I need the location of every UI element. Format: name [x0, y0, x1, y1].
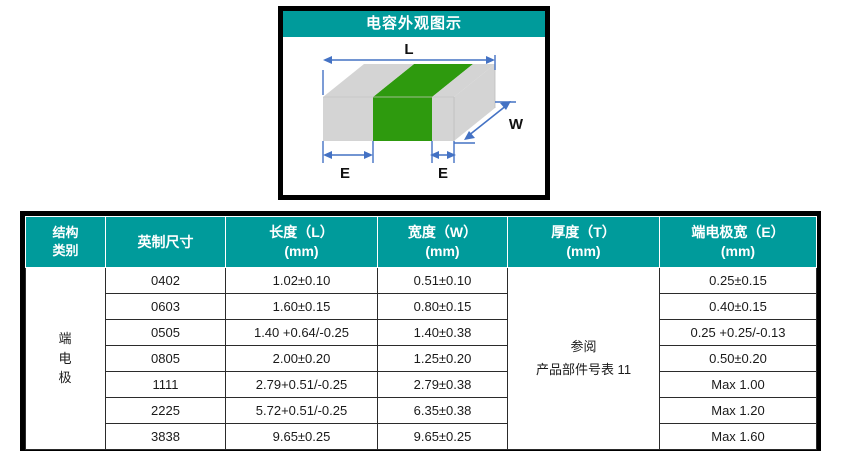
- header-terminal-electrode-width-line1: 端电极宽（E）: [662, 223, 814, 242]
- capacitor-diagram-panel: 电容外观图示: [278, 6, 550, 200]
- header-structure-category: 结构 类别: [26, 217, 106, 268]
- thickness-line1: 参阅: [510, 336, 657, 358]
- e-left-arrow-b: [364, 151, 373, 159]
- cell-size: 3838: [106, 424, 226, 450]
- l-label: L: [404, 41, 413, 58]
- l-arrow-left: [323, 56, 332, 64]
- dimension-spec-table: 结构 类别 英制尺寸 长度（L） (mm) 宽度（W） (mm) 厚度（T） (…: [25, 216, 817, 450]
- table-row: 0805 2.00±0.20 1.25±0.20 0.50±0.20: [26, 346, 817, 372]
- cell-size: 0603: [106, 294, 226, 320]
- cell-width: 1.25±0.20: [378, 346, 508, 372]
- cell-length: 1.40 +0.64/-0.25: [226, 320, 378, 346]
- cell-electrode: 0.50±0.20: [660, 346, 817, 372]
- table-row: 3838 9.65±0.25 9.65±0.25 Max 1.60: [26, 424, 817, 450]
- cell-size: 0505: [106, 320, 226, 346]
- table-row: 0603 1.60±0.15 0.80±0.15 0.40±0.15: [26, 294, 817, 320]
- cell-width: 0.80±0.15: [378, 294, 508, 320]
- cell-length: 1.02±0.10: [226, 268, 378, 294]
- cell-length: 1.60±0.15: [226, 294, 378, 320]
- header-imperial-size: 英制尺寸: [106, 217, 226, 268]
- table-row: 端 电 极 0402 1.02±0.10 0.51±0.10 参阅 产品部件号表…: [26, 268, 817, 294]
- cell-length: 2.00±0.20: [226, 346, 378, 372]
- e-left-arrow-a: [323, 151, 332, 159]
- header-thickness: 厚度（T） (mm): [508, 217, 660, 268]
- cell-length: 2.79+0.51/-0.25: [226, 372, 378, 398]
- header-terminal-electrode-width: 端电极宽（E） (mm): [660, 217, 817, 268]
- cell-electrode: Max 1.20: [660, 398, 817, 424]
- cell-electrode: 0.40±0.15: [660, 294, 817, 320]
- table-row: 0505 1.40 +0.64/-0.25 1.40±0.38 0.25 +0.…: [26, 320, 817, 346]
- cell-electrode: Max 1.60: [660, 424, 817, 450]
- header-length-line2: (mm): [228, 242, 375, 261]
- cell-electrode: 0.25±0.15: [660, 268, 817, 294]
- header-terminal-electrode-width-line2: (mm): [662, 242, 814, 261]
- header-length: 长度（L） (mm): [226, 217, 378, 268]
- e-left-label: E: [340, 165, 350, 182]
- cell-size: 2225: [106, 398, 226, 424]
- table-row: 2225 5.72+0.51/-0.25 6.35±0.38 Max 1.20: [26, 398, 817, 424]
- category-char-3: 极: [28, 368, 103, 388]
- diagram-body: L W E E: [283, 37, 545, 195]
- header-structure-category-line2: 类别: [28, 242, 103, 260]
- front-face-right-terminal: [432, 97, 454, 141]
- front-face-left-terminal: [323, 97, 373, 141]
- cell-thickness: 参阅 产品部件号表 11: [508, 268, 660, 450]
- cell-width: 0.51±0.10: [378, 268, 508, 294]
- category-char-2: 电: [28, 349, 103, 369]
- cell-width: 9.65±0.25: [378, 424, 508, 450]
- table-row: 1111 2.79+0.51/-0.25 2.79±0.38 Max 1.00: [26, 372, 817, 398]
- header-width-line1: 宽度（W）: [380, 223, 505, 242]
- w-label: W: [509, 116, 524, 133]
- header-length-line1: 长度（L）: [228, 223, 375, 242]
- front-face-green: [373, 97, 432, 141]
- cell-width: 6.35±0.38: [378, 398, 508, 424]
- header-imperial-size-line1: 英制尺寸: [108, 233, 223, 252]
- cell-electrode: 0.25 +0.25/-0.13: [660, 320, 817, 346]
- cell-structure-category: 端 电 极: [26, 268, 106, 450]
- cell-size: 0402: [106, 268, 226, 294]
- header-thickness-line1: 厚度（T）: [510, 223, 657, 242]
- cell-size: 1111: [106, 372, 226, 398]
- capacitor-3d-drawing: L W E E: [283, 37, 545, 199]
- thickness-line2: 产品部件号表 11: [510, 359, 657, 381]
- l-arrow-right: [486, 56, 495, 64]
- table-header-row: 结构 类别 英制尺寸 长度（L） (mm) 宽度（W） (mm) 厚度（T） (…: [26, 217, 817, 268]
- category-char-1: 端: [28, 329, 103, 349]
- cell-electrode: Max 1.00: [660, 372, 817, 398]
- cell-width: 1.40±0.38: [378, 320, 508, 346]
- header-structure-category-line1: 结构: [28, 224, 103, 242]
- header-width-line2: (mm): [380, 242, 505, 261]
- e-right-label: E: [438, 165, 448, 182]
- cell-size: 0805: [106, 346, 226, 372]
- header-width: 宽度（W） (mm): [378, 217, 508, 268]
- header-thickness-line2: (mm): [510, 242, 657, 261]
- cell-length: 5.72+0.51/-0.25: [226, 398, 378, 424]
- cell-width: 2.79±0.38: [378, 372, 508, 398]
- cell-length: 9.65±0.25: [226, 424, 378, 450]
- dimension-spec-table-container: 结构 类别 英制尺寸 长度（L） (mm) 宽度（W） (mm) 厚度（T） (…: [20, 211, 821, 451]
- diagram-title: 电容外观图示: [283, 11, 545, 37]
